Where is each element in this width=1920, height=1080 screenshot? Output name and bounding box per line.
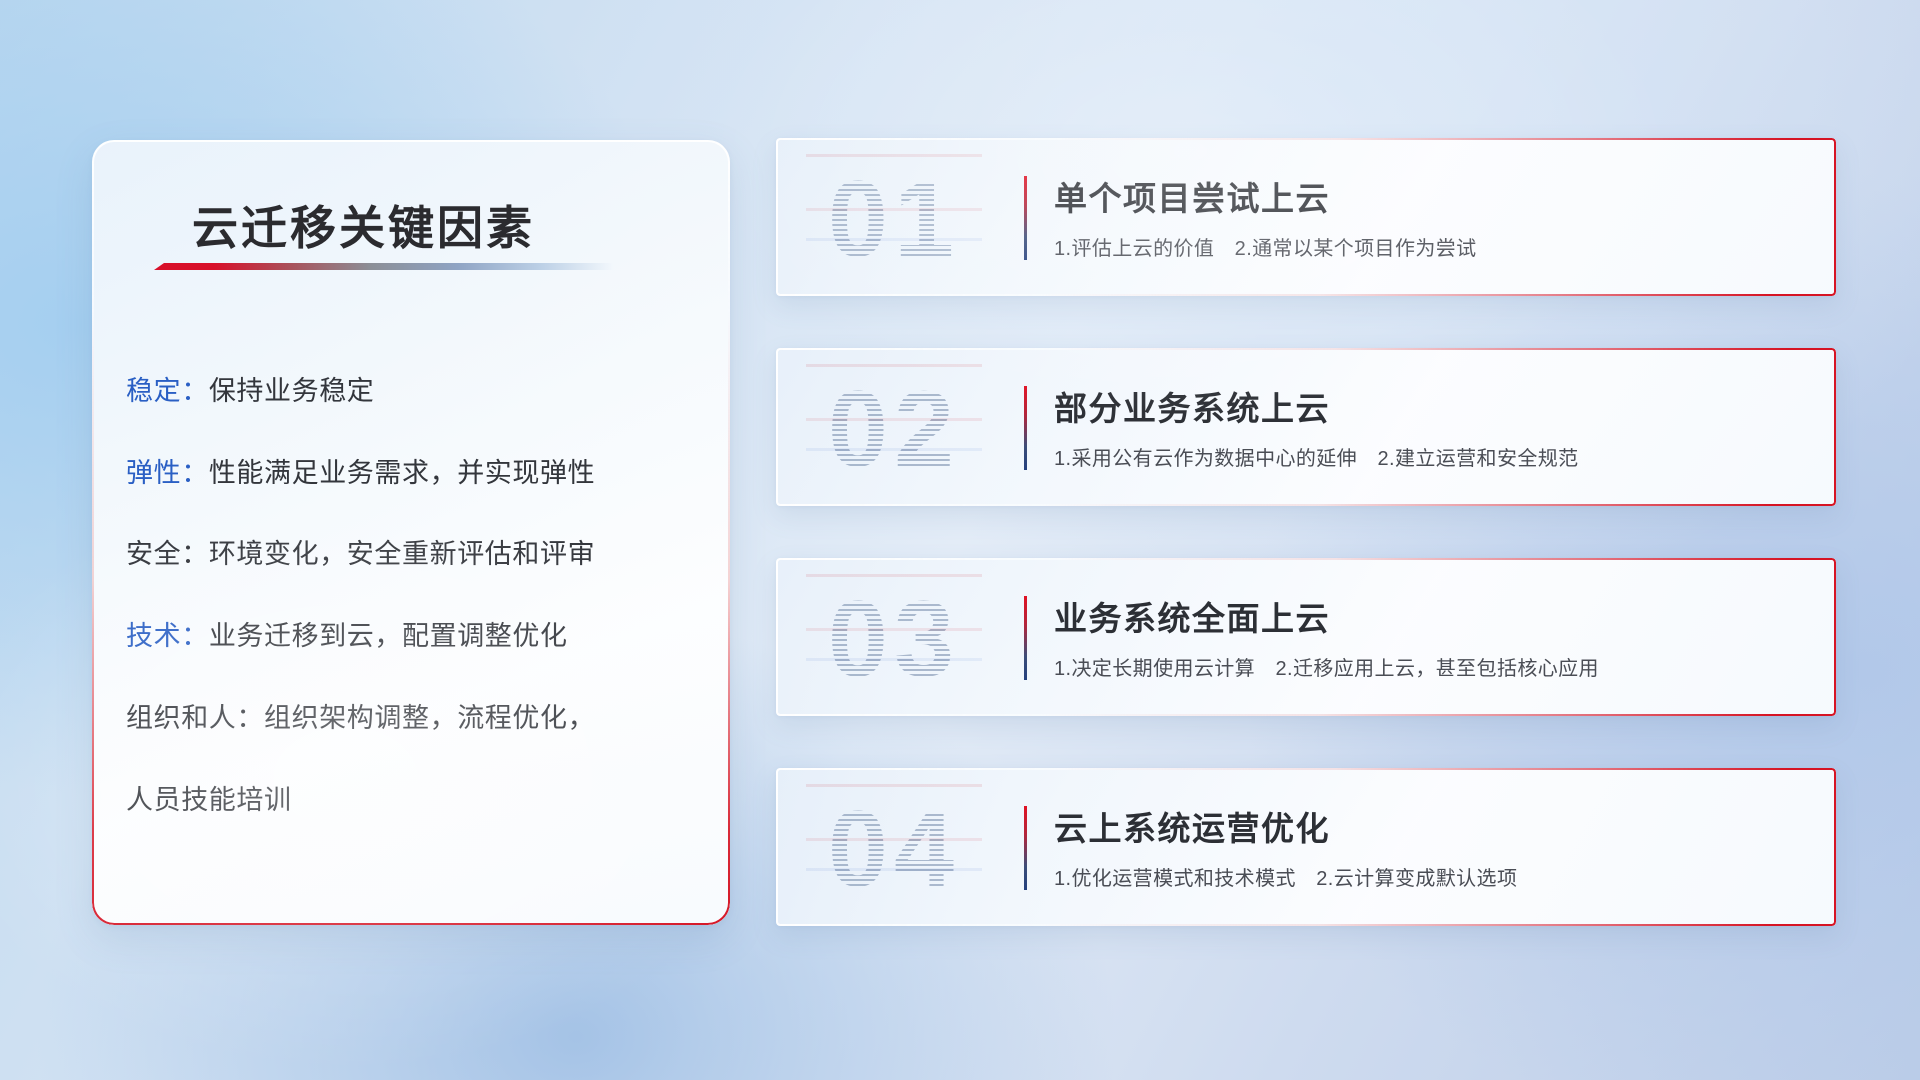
list-item: 弹性：性能满足业务需求，并实现弹性 [126,452,704,496]
list-item-value-continuation: 人员技能培训 [126,779,704,823]
stage-subtitle: 1.决定长期使用云计算 2.迁移应用上云，甚至包括核心应用 [1054,652,1800,681]
stage-title: 业务系统全面上云 [1054,592,1800,640]
stage-card-02[interactable]: 02 部分业务系统上云 1.采用公有云作为数据中心的延伸 2.建立运营和安全规范 [776,348,1836,506]
stage-number-03: 03 [806,574,982,702]
key-factors-card: 云迁移关键因素 稳定：保持业务稳定 弹性：性能满足业务需求，并实现弹性 安全：环… [92,140,730,925]
migration-stage-list: 01 单个项目尝试上云 1.评估上云的价值 2.通常以某个项目作为尝试 02 部… [776,138,1836,926]
stage-card-04[interactable]: 04 云上系统运营优化 1.优化运营模式和技术模式 2.云计算变成默认选项 [776,768,1836,926]
list-item-key: 组织和人： [126,703,264,733]
stage-divider-bar [1024,386,1027,470]
key-factors-list: 稳定：保持业务稳定 弹性：性能满足业务需求，并实现弹性 安全：环境变化，安全重新… [126,370,704,822]
list-item: 稳定：保持业务稳定 [126,370,704,414]
list-item-value: 性能满足业务需求，并实现弹性 [209,458,595,488]
stage-subtitle: 1.采用公有云作为数据中心的延伸 2.建立运营和安全规范 [1054,442,1800,471]
list-item-key: 稳定： [126,376,209,406]
list-item: 组织和人：组织架构调整，流程优化， 人员技能培训 [126,697,704,822]
stage-number-04: 04 [806,784,982,912]
stage-text-block: 云上系统运营优化 1.优化运营模式和技术模式 2.云计算变成默认选项 [1054,802,1800,891]
stage-title: 云上系统运营优化 [1054,802,1800,850]
list-item: 安全：环境变化，安全重新评估和评审 [126,533,704,577]
list-item-key: 技术： [126,621,209,651]
list-item-value: 业务迁移到云，配置调整优化 [209,621,568,651]
stage-text-block: 部分业务系统上云 1.采用公有云作为数据中心的延伸 2.建立运营和安全规范 [1054,382,1800,471]
stage-number-02: 02 [806,364,982,492]
stage-divider-bar [1024,596,1027,680]
title-underline-rule [154,263,614,270]
list-item-value: 组织架构调整，流程优化， [264,703,595,733]
stage-subtitle: 1.评估上云的价值 2.通常以某个项目作为尝试 [1054,232,1800,261]
list-item-value: 环境变化，安全重新评估和评审 [209,539,595,569]
stage-subtitle: 1.优化运营模式和技术模式 2.云计算变成默认选项 [1054,862,1800,891]
list-item-key: 安全： [126,539,209,569]
stage-title: 部分业务系统上云 [1054,382,1800,430]
stage-number-01: 01 [806,154,982,282]
page-title: 云迁移关键因素 [192,192,535,258]
stage-text-block: 业务系统全面上云 1.决定长期使用云计算 2.迁移应用上云，甚至包括核心应用 [1054,592,1800,681]
slide-canvas: 云迁移关键因素 稳定：保持业务稳定 弹性：性能满足业务需求，并实现弹性 安全：环… [0,0,1920,1080]
stage-divider-bar [1024,176,1027,260]
list-item: 技术：业务迁移到云，配置调整优化 [126,615,704,659]
stage-text-block: 单个项目尝试上云 1.评估上云的价值 2.通常以某个项目作为尝试 [1054,172,1800,261]
list-item-key: 弹性： [126,458,209,488]
stage-title: 单个项目尝试上云 [1054,172,1800,220]
list-item-value: 保持业务稳定 [209,376,375,406]
stage-card-03[interactable]: 03 业务系统全面上云 1.决定长期使用云计算 2.迁移应用上云，甚至包括核心应… [776,558,1836,716]
stage-card-01[interactable]: 01 单个项目尝试上云 1.评估上云的价值 2.通常以某个项目作为尝试 [776,138,1836,296]
stage-divider-bar [1024,806,1027,890]
